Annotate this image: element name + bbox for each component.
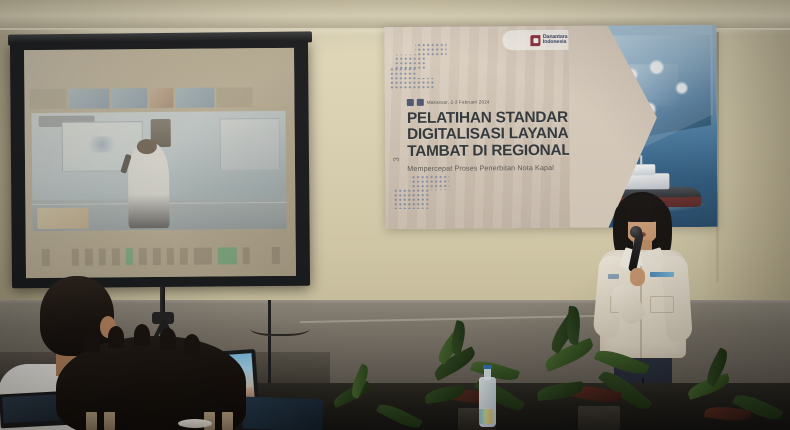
presenter-hand: [630, 268, 645, 286]
lock-icon: [651, 61, 663, 73]
zoom-reactions-button[interactable]: [153, 248, 161, 265]
danantara-logo: Danantara Indonesia: [530, 34, 568, 45]
zoom-apps-button[interactable]: [166, 248, 174, 265]
jacket-sleeve-logo: [608, 274, 619, 279]
bottle-cap: [483, 365, 492, 369]
paper-cup: [104, 412, 115, 430]
plate: [178, 419, 212, 428]
zoom-participant-thumbnail[interactable]: [111, 88, 147, 109]
table-items: [86, 406, 326, 430]
water-bottle: [479, 365, 496, 427]
hair-spike: [108, 326, 124, 348]
projection-screen-surface: [24, 48, 296, 278]
calendar-icon: [417, 98, 424, 105]
remote-presenter: [128, 142, 169, 228]
floor-tile-area: [37, 207, 88, 229]
document-icon: [677, 83, 687, 93]
hair-spike: [134, 324, 150, 346]
zoom-video-button[interactable]: [71, 249, 79, 266]
microphone-head-icon: [630, 226, 642, 238]
potted-plant: [330, 386, 430, 430]
hair-spike: [160, 328, 176, 350]
danantara-mark-icon: [530, 35, 540, 46]
zoom-mute-button[interactable]: [42, 249, 50, 266]
zoom-whiteboard-button[interactable]: [180, 248, 188, 265]
zoom-security-button[interactable]: [85, 249, 93, 266]
banner-pattern-block: [393, 175, 449, 209]
zoom-participant-name-tile[interactable]: [30, 89, 66, 110]
banner-date-line: Makassar, 2-3 Februari 2024: [407, 97, 490, 106]
zoom-participant-name-tile[interactable]: [216, 87, 252, 108]
potted-plant: [680, 368, 790, 430]
banner-date-text: Makassar, 2-3 Februari 2024: [427, 99, 490, 104]
location-pin-icon: [407, 98, 414, 105]
zoom-side-panel[interactable]: [219, 118, 280, 171]
banner-side-number: 3: [392, 157, 401, 162]
paper-cup: [222, 412, 233, 430]
potted-plant: [418, 338, 538, 430]
zoom-leave-button[interactable]: [272, 247, 280, 264]
zoom-new-share-button[interactable]: [218, 247, 237, 264]
zoom-application: [24, 48, 296, 278]
whiteboard-content: [85, 136, 118, 153]
tugboat-mast: [640, 155, 642, 165]
zoom-pause-share-button[interactable]: [243, 247, 251, 264]
zoom-participant-thumbnail[interactable]: [68, 88, 110, 109]
zoom-participant-thumbnail[interactable]: [150, 88, 173, 109]
zoom-annotate-button[interactable]: [194, 248, 213, 265]
plant-leaf: [542, 338, 596, 372]
zoom-share-screen-button[interactable]: [126, 248, 134, 265]
jacket-chest-logo: [650, 272, 674, 277]
paper-cup: [86, 412, 97, 430]
presenter-jacket-pocket: [650, 296, 674, 313]
mic-stand: [268, 300, 271, 390]
zoom-shared-screen[interactable]: [31, 111, 286, 232]
plant-leaf: [376, 400, 423, 430]
plant-leaf: [536, 381, 583, 401]
bottle-label: [479, 409, 496, 424]
banner-pattern-block: [390, 67, 434, 89]
hair-spike: [84, 330, 100, 352]
zoom-record-button[interactable]: [139, 248, 147, 265]
zoom-participant-strip: [30, 87, 289, 110]
zoom-participant-thumbnail[interactable]: [175, 87, 214, 108]
potted-plant: [534, 330, 664, 430]
zoom-participants-button[interactable]: [98, 248, 106, 265]
hair-spike: [184, 334, 200, 356]
zoom-toolbar[interactable]: [26, 242, 296, 272]
danantara-logo-text: Danantara Indonesia: [543, 34, 568, 45]
floor-cable: [250, 318, 310, 336]
plant-pot: [578, 406, 620, 430]
zoom-chat-button[interactable]: [112, 248, 120, 265]
projection-screen: [10, 40, 310, 289]
banner-pattern-block: [394, 43, 446, 69]
photo-scene: Danantara Indonesia PELINDO Makassar, 2-…: [0, 0, 790, 430]
